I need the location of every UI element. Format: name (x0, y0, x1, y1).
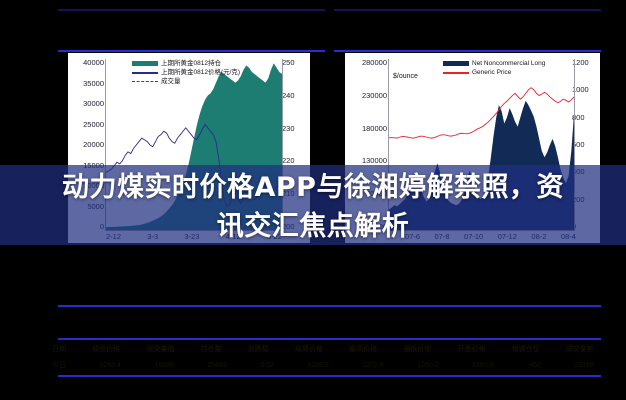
table-cell: -452 (527, 362, 541, 369)
table-cell: 开盘价格 (458, 344, 486, 354)
right-chart-y-axis-title: $/ounce (393, 73, 418, 80)
page-title-line-1: 动力煤实时价格APP与徐湘婷解禁照，资 (0, 168, 626, 208)
legend-entry: 上期所黄金0812价格(元/克) (132, 68, 240, 77)
divider-top-right-1 (334, 9, 601, 11)
table-row: 今日 1268.4 18206 25481 0.52 1265.8 1272.6… (52, 357, 594, 373)
table-cell: 结算价格 (295, 344, 323, 354)
table-cell: 1265.8 (307, 362, 328, 369)
divider-table-top (58, 338, 601, 340)
divider-table-bottom (58, 375, 601, 377)
page-title-line-2: 讯交汇焦点解析 (0, 207, 626, 247)
y-tick: 40000 (83, 59, 104, 67)
legend-label: Generic Price (472, 68, 511, 77)
divider-top-left-2 (58, 50, 325, 52)
table-cell: 日期 (52, 344, 66, 354)
table-cell: 0.52 (260, 362, 274, 369)
y2-tick: 240 (282, 92, 295, 100)
legend-entry: 上期所黄金0812持仓 (132, 59, 240, 68)
table-cell: 1263.5 (472, 362, 493, 369)
table-row: 日期 收盘价格 成交量值 持仓量 涨跌幅 结算价格 最高价格 最低价格 开盘价格… (52, 341, 594, 357)
table-cell: 25481 (207, 362, 226, 369)
page-root: 40000 35000 30000 25000 20000 15000 1000… (0, 0, 626, 400)
table-cell: 1260.2 (417, 362, 438, 369)
legend-entry: Generic Price (443, 68, 545, 77)
right-chart-legend: Net Noncommercial Long Generic Price (443, 59, 545, 77)
y-tick: 280000 (362, 59, 387, 67)
y2-tick: 230 (282, 125, 295, 133)
table-cell: 今日 (52, 360, 66, 370)
table-cell: 最高价格 (349, 344, 377, 354)
divider-mid (58, 305, 601, 307)
left-chart-legend: 上期所黄金0812持仓 上期所黄金0812价格(元/克) 成交量 (132, 59, 240, 86)
y-tick: 20000 (83, 141, 104, 149)
legend-entry: Net Noncommercial Long (443, 59, 545, 68)
legend-swatch-volume (132, 81, 158, 82)
table-cell: 增减仓位 (512, 344, 540, 354)
table-cell: 1272.6 (362, 362, 383, 369)
legend-swatch-generic-price (443, 72, 469, 74)
bottom-data-table: 日期 收盘价格 成交量值 持仓量 涨跌幅 结算价格 最高价格 最低价格 开盘价格… (52, 341, 594, 373)
legend-label: Net Noncommercial Long (472, 59, 545, 68)
table-cell: 成交金额 (566, 344, 594, 354)
legend-swatch-price (132, 72, 158, 74)
legend-entry: 成交量 (132, 77, 240, 86)
legend-label: 上期所黄金0812持仓 (161, 59, 221, 68)
legend-swatch-holdings (132, 61, 158, 66)
y-tick: 180000 (362, 125, 387, 133)
y2-tick: 250 (282, 59, 295, 67)
table-cell: 成交量值 (146, 344, 174, 354)
table-cell: 1268.4 (99, 362, 120, 369)
divider-top-right-2 (334, 50, 601, 52)
y-tick: 35000 (83, 80, 104, 88)
table-cell: 最低价格 (403, 344, 431, 354)
y-tick: 30000 (83, 100, 104, 108)
legend-label: 成交量 (161, 77, 181, 86)
table-cell: 18206 (154, 362, 173, 369)
y-tick: 230000 (362, 92, 387, 100)
legend-label: 上期所黄金0812价格(元/克) (161, 68, 240, 77)
y-tick: 25000 (83, 121, 104, 129)
legend-swatch-net-noncommercial-long (443, 61, 469, 66)
table-cell: 持仓量 (201, 344, 222, 354)
table-cell: 收盘价格 (92, 344, 120, 354)
divider-top-left-1 (58, 9, 325, 11)
table-cell: 23168 (575, 362, 594, 369)
table-cell: 涨跌幅 (248, 344, 269, 354)
